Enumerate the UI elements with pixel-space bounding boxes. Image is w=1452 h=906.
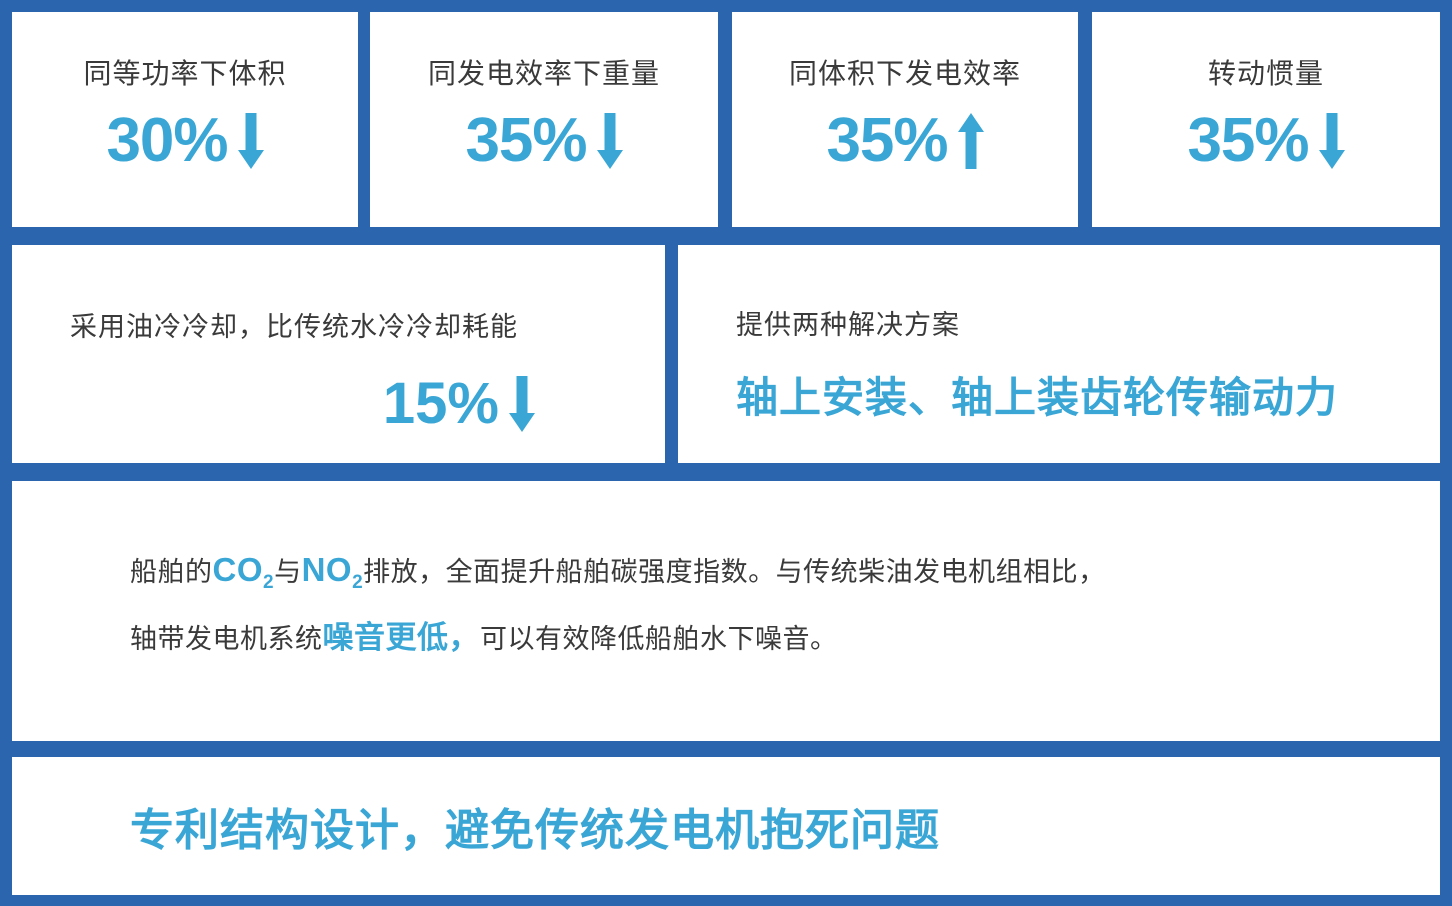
solutions-highlight: 轴上安装、轴上装齿轮传输动力 (736, 364, 1410, 425)
stat-card-value-row: 35% (1187, 110, 1344, 172)
paragraph-line1-pre: 船舶的 (130, 557, 213, 587)
oil-cooling-value-row: 15% (70, 374, 625, 434)
oil-cooling-value: 15% (383, 375, 499, 433)
arrow-down-icon (238, 111, 264, 171)
emissions-paragraph-card: 船舶的CO2与NO2排放，全面提升船舶碳强度指数。与传统柴油发电机组相比， 轴带… (12, 481, 1440, 741)
paragraph-line-2: 轴带发电机系统噪音更低，可以有效降低船舶水下噪音。 (130, 622, 1380, 655)
arrow-up-icon (958, 111, 984, 171)
no2-formula: NO2 (302, 551, 364, 588)
paragraph-line1-mid: 与 (274, 557, 302, 587)
co2-subscript: 2 (263, 572, 274, 593)
stat-card-volume: 同等功率下体积 30% (12, 12, 358, 227)
oil-cooling-card: 采用油冷冷却，比传统水冷冷却耗能 15% (12, 245, 665, 463)
stat-card-value: 35% (465, 110, 586, 172)
stat-card-title: 同体积下发电效率 (789, 52, 1021, 92)
stat-card-weight: 同发电效率下重量 35% (370, 12, 718, 227)
stat-card-title: 同等功率下体积 (83, 52, 286, 92)
stat-card-efficiency: 同体积下发电效率 35% (732, 12, 1078, 227)
stat-card-inertia: 转动惯量 35% (1092, 12, 1440, 227)
co2-formula: CO2 (213, 551, 275, 588)
arrow-down-icon (509, 374, 535, 434)
stat-card-title: 同发电效率下重量 (428, 52, 660, 92)
no2-subscript: 2 (352, 572, 363, 593)
co2-symbol: CO (213, 551, 264, 588)
stat-card-value: 30% (106, 110, 227, 172)
paragraph-line-1: 船舶的CO2与NO2排放，全面提升船舶碳强度指数。与传统柴油发电机组相比， (130, 553, 1380, 588)
stat-card-title: 转动惯量 (1208, 52, 1324, 92)
oil-cooling-title: 采用油冷冷却，比传统水冷冷却耗能 (70, 305, 625, 344)
paragraph-line2-pre: 轴带发电机系统 (130, 624, 323, 654)
paragraph-line1-post: 排放，全面提升船舶碳强度指数。与传统柴油发电机组相比， (363, 557, 1106, 587)
stat-card-value-row: 35% (826, 110, 983, 172)
arrow-down-icon (597, 111, 623, 171)
stat-card-value-row: 30% (106, 110, 263, 172)
solutions-title: 提供两种解决方案 (736, 303, 1410, 342)
stat-card-value: 35% (1187, 110, 1308, 172)
stat-card-value: 35% (826, 110, 947, 172)
solutions-card: 提供两种解决方案 轴上安装、轴上装齿轮传输动力 (678, 245, 1440, 463)
stat-card-value-row: 35% (465, 110, 622, 172)
no2-symbol: NO (302, 551, 353, 588)
patent-banner-card: 专利结构设计，避免传统发电机抱死问题 (12, 757, 1440, 895)
arrow-down-icon (1319, 111, 1345, 171)
paragraph-line2-post: 可以有效降低船舶水下噪音。 (480, 624, 838, 654)
infographic-page: 同等功率下体积 30% 同发电效率下重量 35% 同体积下发电效率 35% 转动… (0, 0, 1452, 906)
paragraph-line2-highlight: 噪音更低， (323, 620, 481, 655)
patent-banner-text: 专利结构设计，避免传统发电机抱死问题 (130, 794, 940, 858)
